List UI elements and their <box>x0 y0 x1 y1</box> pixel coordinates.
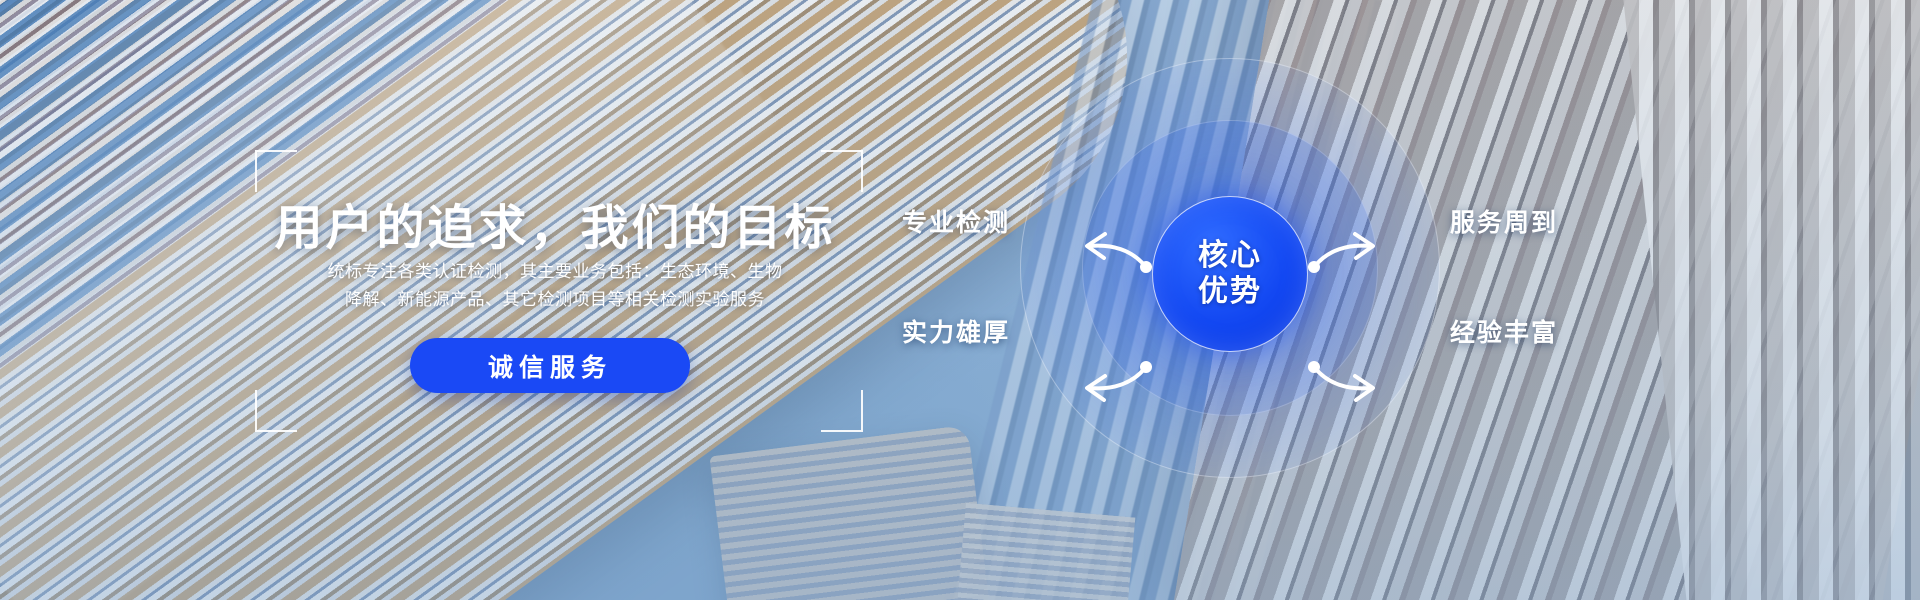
corner-bracket-bottom-left-icon <box>255 390 297 432</box>
hero-subtitle-line-1: 统标专注各类认证检测，其主要业务包括：生态环境、生物 <box>265 258 845 286</box>
hero-subtitle: 统标专注各类认证检测，其主要业务包括：生态环境、生物 降解、新能源产品、其它检测… <box>265 258 845 314</box>
advantage-label-professional-testing[interactable]: 专业检测 <box>902 203 1010 239</box>
core-advantages-graphic: 核心 优势 专业检测 <box>1020 58 1440 478</box>
hero-banner: 用户的追求，我们的目标 统标专注各类认证检测，其主要业务包括：生态环境、生物 降… <box>0 0 1920 600</box>
hero-subtitle-line-2: 降解、新能源产品、其它检测项目等相关检测实验服务 <box>265 286 845 314</box>
hero-title: 用户的追求，我们的目标 <box>255 188 855 258</box>
building-bottom-right <box>955 503 1136 600</box>
hero-text-block: 用户的追求，我们的目标 统标专注各类认证检测，其主要业务包括：生态环境、生物 降… <box>255 140 855 390</box>
corner-bracket-top-right-icon <box>821 150 863 192</box>
core-circle-line-1: 核心 <box>1198 238 1262 274</box>
corner-bracket-top-left-icon <box>255 150 297 192</box>
advantage-label-attentive-service[interactable]: 服务周到 <box>1450 203 1558 239</box>
cta-button[interactable]: 诚信服务 <box>410 338 690 393</box>
core-circle-line-2: 优势 <box>1198 274 1262 310</box>
corner-bracket-bottom-right-icon <box>821 390 863 432</box>
advantage-label-strong-capability[interactable]: 实力雄厚 <box>902 313 1010 349</box>
core-advantage-circle[interactable]: 核心 优势 <box>1152 196 1308 352</box>
building-bottom-left <box>709 425 990 600</box>
advantage-label-rich-experience[interactable]: 经验丰富 <box>1450 313 1558 349</box>
